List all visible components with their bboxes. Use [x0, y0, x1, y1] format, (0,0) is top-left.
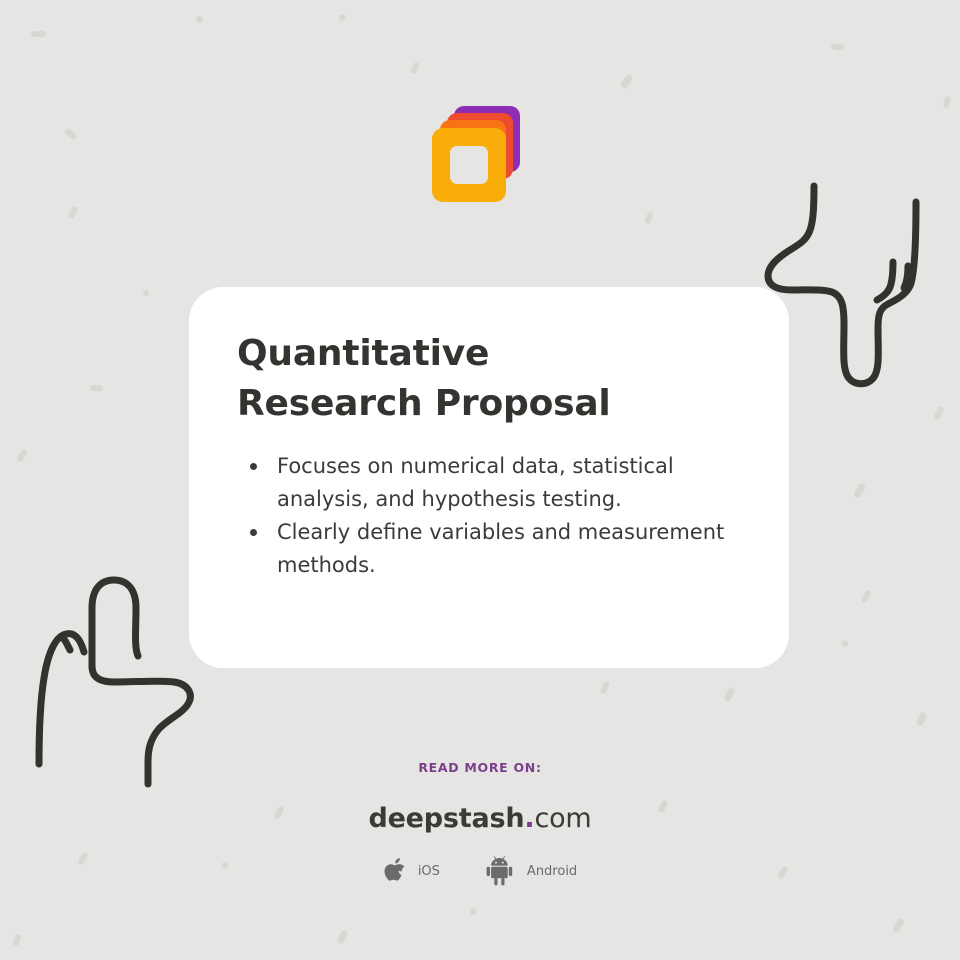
confetti-speck	[860, 589, 871, 603]
confetti-speck	[64, 127, 78, 140]
confetti-speck	[16, 448, 28, 462]
bullet-dot-icon	[250, 529, 257, 536]
page-title: Quantitative Research Proposal	[237, 329, 667, 428]
bullet-list: Focuses on numerical data, statistical a…	[237, 450, 741, 582]
deepstash-idea-card: Quantitative Research Proposal Focuses o…	[0, 0, 960, 960]
confetti-speck	[831, 43, 845, 51]
confetti-speck	[942, 95, 951, 108]
wordmark-name: deepstash	[368, 803, 524, 834]
deepstash-wordmark[interactable]: deepstash.com	[0, 803, 960, 834]
store-badge-android[interactable]: Android	[486, 856, 577, 886]
logo-center-cutout	[450, 146, 488, 184]
confetti-speck	[339, 14, 346, 21]
confetti-speck	[336, 929, 348, 945]
list-item-text: Focuses on numerical data, statistical a…	[277, 454, 674, 511]
store-badge-ios[interactable]: iOS	[383, 856, 440, 886]
deepstash-logo[interactable]	[428, 100, 520, 198]
confetti-speck	[619, 73, 633, 89]
confetti-speck	[67, 205, 79, 219]
confetti-speck	[853, 482, 867, 498]
list-item: Focuses on numerical data, statistical a…	[237, 450, 741, 516]
confetti-speck	[470, 908, 476, 915]
confetti-speck	[90, 384, 103, 391]
read-more-label: READ MORE ON:	[0, 760, 960, 775]
idea-card: Quantitative Research Proposal Focuses o…	[189, 287, 789, 668]
store-label-android: Android	[527, 864, 577, 879]
confetti-speck	[410, 61, 421, 74]
confetti-speck	[644, 211, 654, 224]
store-badges: iOS Android	[0, 856, 960, 886]
confetti-speck	[723, 686, 737, 702]
confetti-speck	[12, 933, 22, 946]
apple-icon	[383, 856, 409, 886]
confetti-speck	[842, 640, 848, 647]
wordmark-dot: .	[524, 803, 534, 834]
confetti-speck	[916, 711, 928, 727]
list-item-text: Clearly define variables and measurement…	[277, 520, 724, 577]
confetti-speck	[143, 290, 149, 296]
footer: READ MORE ON: deepstash.com iOS	[0, 760, 960, 886]
confetti-speck	[600, 680, 611, 694]
confetti-speck	[933, 405, 945, 420]
pointing-hand-left-icon	[22, 558, 212, 792]
confetti-speck	[892, 917, 906, 933]
android-icon	[486, 856, 518, 886]
wordmark-tld: com	[534, 803, 591, 834]
bullet-dot-icon	[250, 463, 257, 470]
confetti-speck	[195, 15, 204, 24]
list-item: Clearly define variables and measurement…	[237, 516, 741, 582]
confetti-speck	[31, 31, 46, 37]
store-label-ios: iOS	[418, 864, 440, 879]
